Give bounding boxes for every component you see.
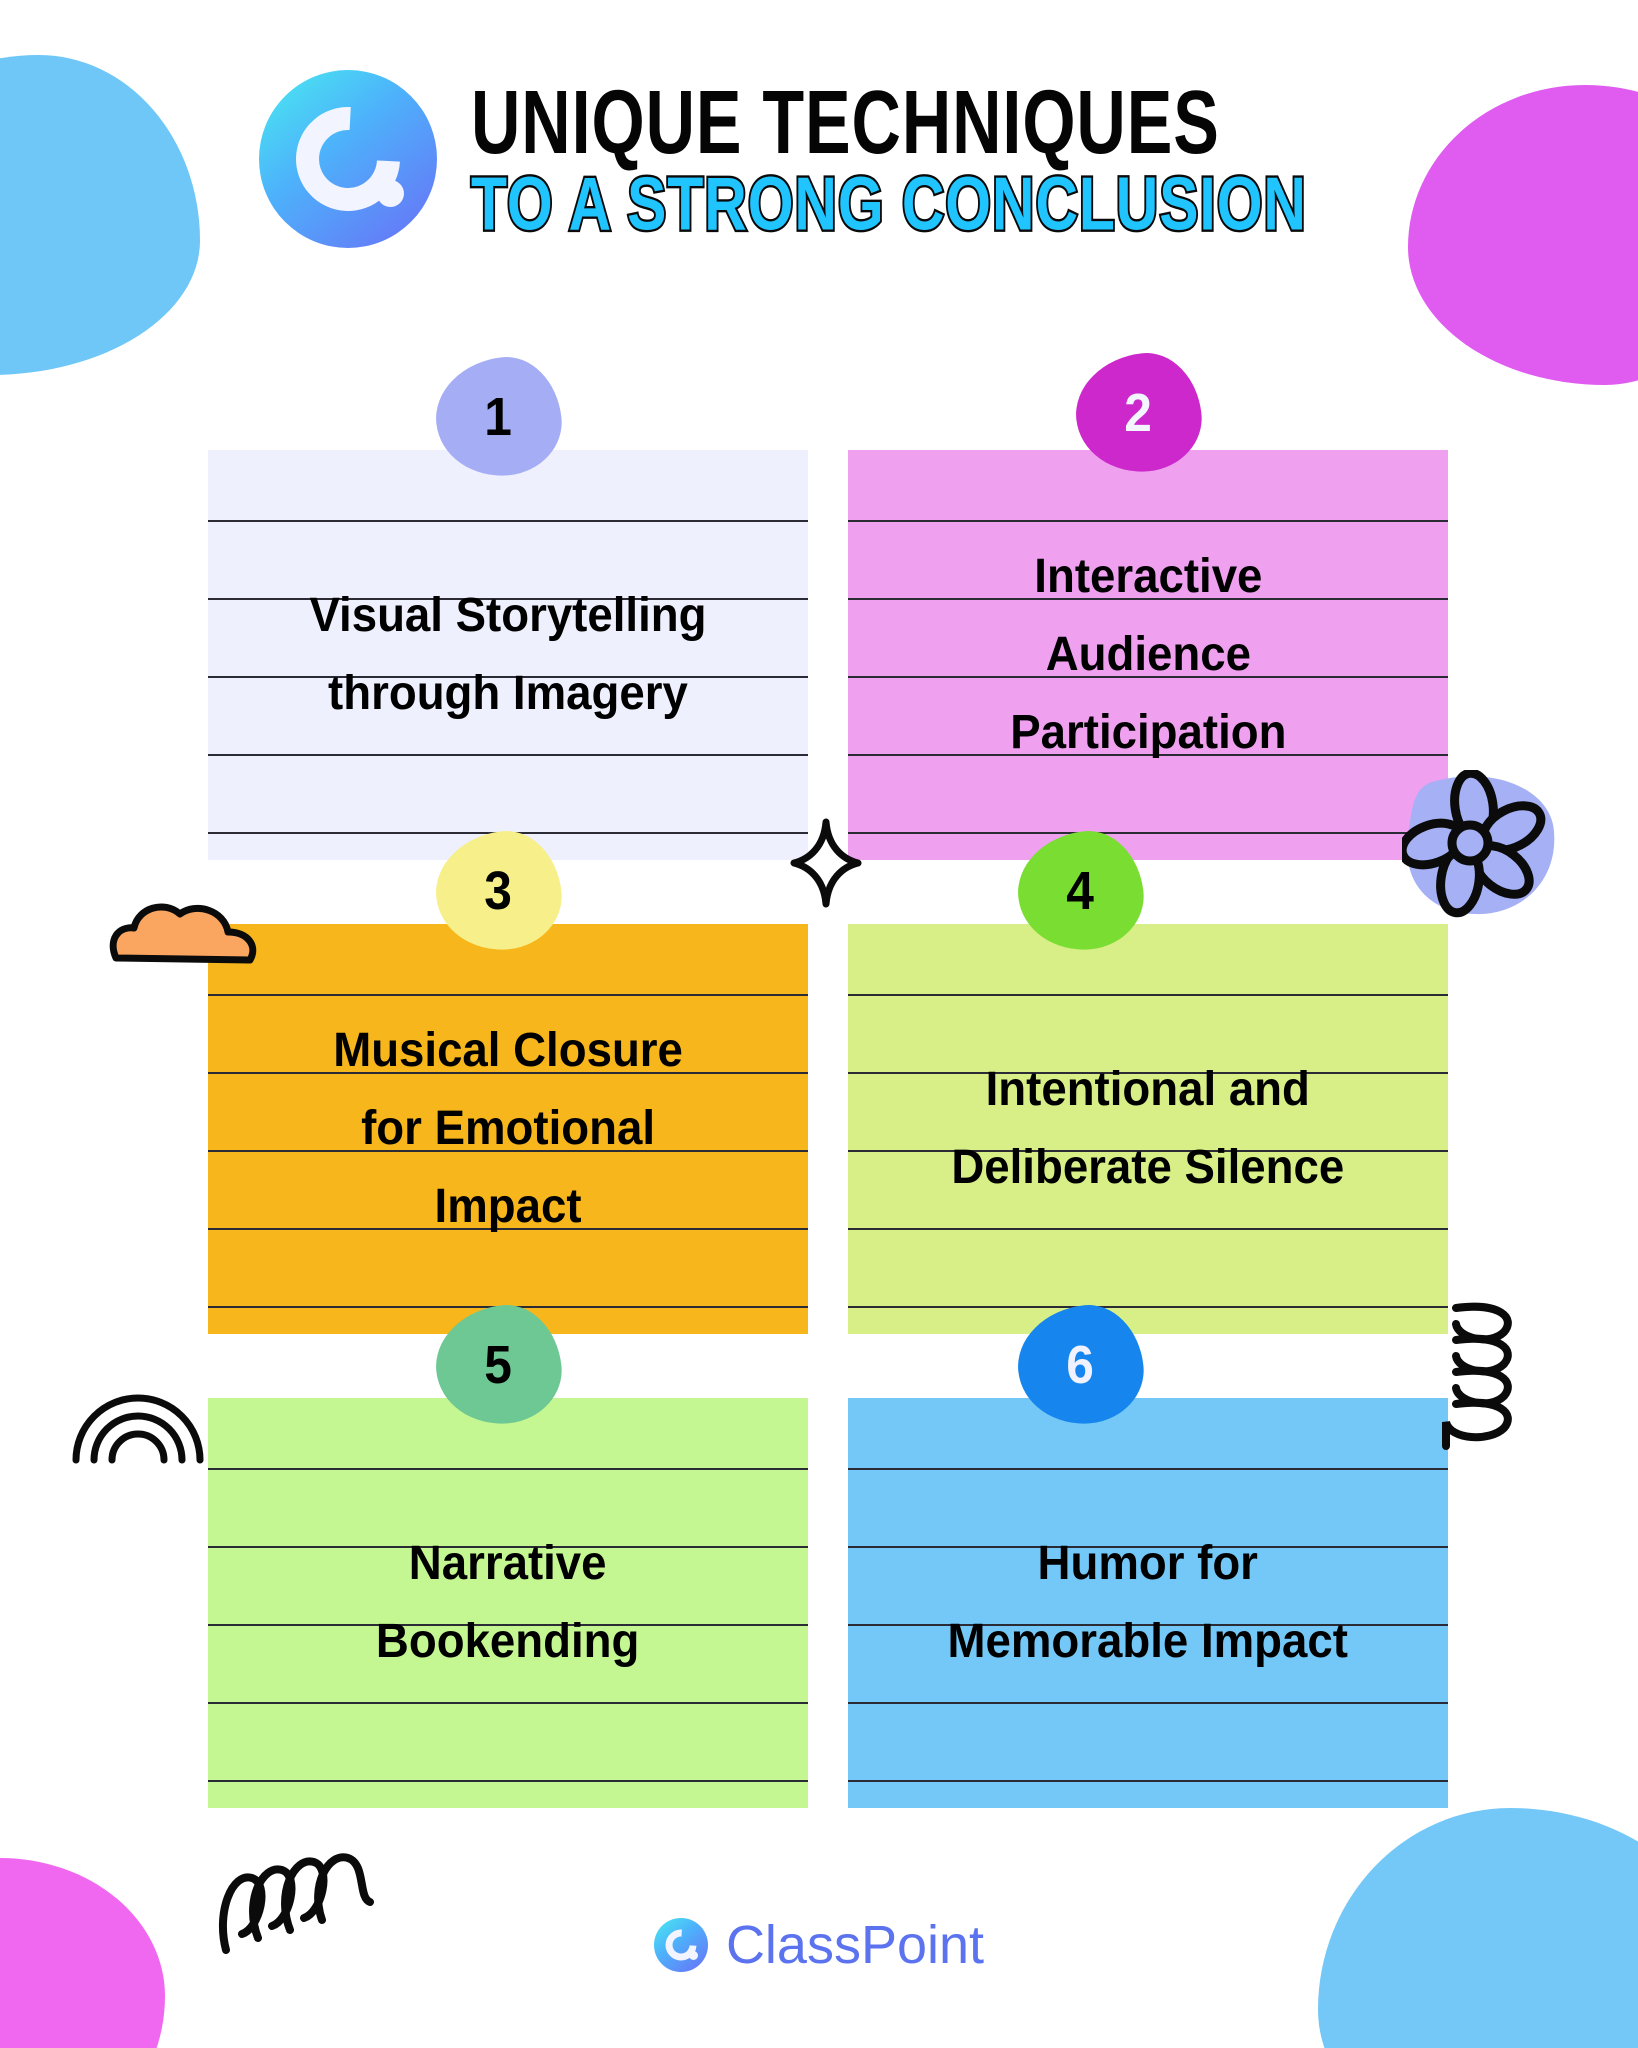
- number-badge-5-label: 5: [485, 1334, 513, 1396]
- brand-name: ClassPoint: [726, 1914, 984, 1976]
- number-badge-1-label: 1: [485, 386, 513, 448]
- classpoint-footer-logo-icon: [654, 1918, 708, 1972]
- number-badge-4-label: 4: [1067, 860, 1095, 922]
- number-badge-2-label: 2: [1125, 382, 1153, 444]
- technique-item-4: 4 Intentional and Deliberate Silence: [848, 924, 1448, 1334]
- technique-item-6: 6 Humor for Memorable Impact: [848, 1398, 1448, 1808]
- footer-logo-c-arc: [659, 1923, 703, 1967]
- technique-item-1: 1 Visual Storytelling through Imagery: [208, 450, 808, 860]
- technique-card-6: Humor for Memorable Impact: [848, 1398, 1448, 1808]
- technique-card-2-text: Interactive Audience Participation: [985, 538, 1311, 772]
- title-block: UNIQUE TECHNIQUES TO A STRONG CONCLUSION: [471, 70, 1380, 230]
- sparkle-doodle-icon: [790, 818, 862, 908]
- technique-card-1-text: Visual Storytelling through Imagery: [285, 577, 731, 733]
- poster-header: UNIQUE TECHNIQUES TO A STRONG CONCLUSION: [0, 70, 1638, 248]
- technique-item-3: 3 Musical Closure for Emotional Impact: [208, 924, 808, 1334]
- poster-title-line1: UNIQUE TECHNIQUES: [471, 80, 1289, 168]
- logo-dot: [377, 180, 404, 207]
- technique-card-5-text: Narrative Bookending: [352, 1525, 665, 1681]
- technique-card-3-text: Musical Closure for Emotional Impact: [308, 1012, 707, 1246]
- coil-doodle-right-icon: [1438, 1300, 1538, 1460]
- techniques-grid: 1 Visual Storytelling through Imagery 2 …: [208, 450, 1448, 1808]
- technique-card-2: Interactive Audience Participation: [848, 450, 1448, 860]
- infographic-poster: UNIQUE TECHNIQUES TO A STRONG CONCLUSION…: [0, 0, 1638, 2048]
- rainbow-doodle-icon: [68, 1348, 208, 1468]
- technique-card-4: Intentional and Deliberate Silence: [848, 924, 1448, 1334]
- classpoint-logo-icon: [259, 70, 437, 248]
- technique-card-4-text: Intentional and Deliberate Silence: [927, 1051, 1369, 1207]
- technique-card-6-text: Humor for Memorable Impact: [923, 1525, 1373, 1681]
- technique-item-2: 2 Interactive Audience Participation: [848, 450, 1448, 860]
- logo-c-arc: [274, 86, 421, 233]
- footer-brand: ClassPoint: [0, 1914, 1638, 1976]
- number-badge-3-label: 3: [485, 860, 513, 922]
- number-badge-6-label: 6: [1067, 1334, 1095, 1396]
- cloud-doodle-icon: [108, 880, 268, 980]
- technique-card-3: Musical Closure for Emotional Impact: [208, 924, 808, 1334]
- poster-title-line2: TO A STRONG CONCLUSION: [471, 166, 1307, 242]
- technique-item-5: 5 Narrative Bookending: [208, 1398, 808, 1808]
- technique-card-5: Narrative Bookending: [208, 1398, 808, 1808]
- technique-card-1: Visual Storytelling through Imagery: [208, 450, 808, 860]
- flower-doodle-icon: [1402, 770, 1562, 920]
- footer-logo-dot: [689, 1951, 698, 1960]
